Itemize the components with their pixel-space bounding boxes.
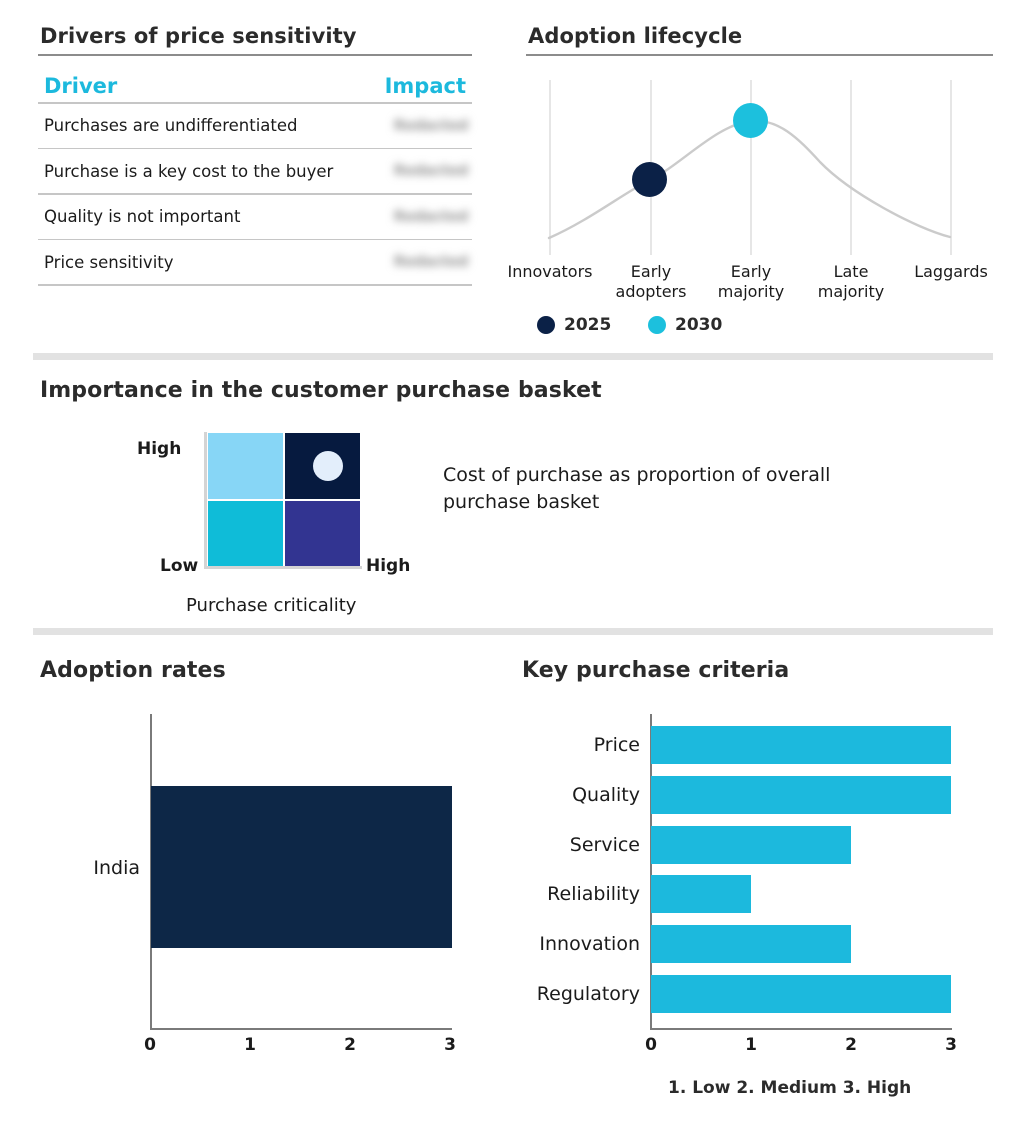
x-tick-0: 0	[138, 1035, 162, 1055]
key-criteria-x-axis	[650, 1028, 952, 1030]
table-row[interactable]: Price sensitivity Redacted	[38, 240, 472, 284]
bar-quality[interactable]	[651, 776, 951, 814]
key-criteria-footnote: 1. Low 2. Medium 3. High	[668, 1078, 911, 1098]
x-tick-1: 1	[739, 1035, 763, 1055]
x-tick-1: 1	[238, 1035, 262, 1055]
quadrant-low-high[interactable]	[285, 501, 360, 567]
category-label-regulatory: Regulatory	[500, 983, 640, 1005]
legend-label-2025: 2025	[564, 315, 611, 335]
drivers-title-rule	[38, 54, 472, 56]
x-tick-laggards: Laggards	[908, 262, 994, 282]
table-bottom-rule	[38, 284, 472, 286]
legend-dot-2030	[648, 316, 666, 334]
band-separator	[33, 628, 993, 635]
quadrant-low-low[interactable]	[208, 501, 283, 567]
marker-2025[interactable]	[632, 162, 667, 197]
column-header-driver: Driver	[44, 74, 385, 98]
category-label-service: Service	[500, 834, 640, 856]
impact-cell-redacted: Redacted	[394, 254, 466, 270]
x-tick-late-majority: Latemajority	[808, 262, 894, 302]
matrix-y-label-low: Low	[160, 556, 198, 576]
quadrant-high-high[interactable]	[285, 433, 360, 499]
table-row[interactable]: Purchase is a key cost to the buyer Reda…	[38, 149, 472, 193]
category-label-price: Price	[500, 734, 640, 756]
x-tick-2: 2	[338, 1035, 362, 1055]
bar-india[interactable]	[151, 786, 452, 948]
x-tick-3: 3	[438, 1035, 462, 1055]
category-label-innovation: Innovation	[500, 933, 640, 955]
position-marker-icon	[313, 451, 343, 481]
key-criteria-title: Key purchase criteria	[522, 658, 789, 683]
bar-regulatory[interactable]	[651, 975, 951, 1013]
category-label-reliability: Reliability	[500, 883, 640, 905]
drivers-section-title: Drivers of price sensitivity	[40, 24, 357, 48]
lifecycle-section-title: Adoption lifecycle	[528, 24, 742, 48]
x-tick-early-majority: Earlymajority	[708, 262, 794, 302]
band-separator	[33, 353, 993, 360]
adoption-rates-x-axis	[150, 1028, 452, 1030]
driver-cell: Quality is not important	[44, 207, 394, 226]
driver-cell: Purchases are undifferentiated	[44, 116, 394, 135]
bar-innovation[interactable]	[651, 925, 851, 963]
table-row[interactable]: Purchases are undifferentiated Redacted	[38, 104, 472, 148]
bar-reliability[interactable]	[651, 875, 751, 913]
legend-item-2025[interactable]: 2025	[537, 315, 611, 335]
legend-label-2030: 2030	[675, 315, 722, 335]
legend-dot-2025	[537, 316, 555, 334]
x-tick-innovators: Innovators	[487, 262, 613, 282]
matrix-x-axis-title: Purchase criticality	[186, 595, 356, 616]
impact-cell-redacted: Redacted	[394, 209, 466, 225]
adoption-rates-title: Adoption rates	[40, 658, 226, 683]
driver-cell: Purchase is a key cost to the buyer	[44, 162, 394, 181]
basket-section-title: Importance in the customer purchase bask…	[40, 378, 602, 403]
x-tick-0: 0	[639, 1035, 663, 1055]
x-tick-2: 2	[839, 1035, 863, 1055]
drivers-table-header: Driver Impact	[38, 74, 472, 102]
impact-cell-redacted: Redacted	[394, 118, 466, 134]
category-label-india: India	[60, 857, 140, 879]
matrix-x-label-high: High	[366, 556, 410, 576]
lifecycle-curve	[530, 80, 1000, 255]
legend-item-2030[interactable]: 2030	[648, 315, 722, 335]
driver-cell: Price sensitivity	[44, 253, 394, 272]
table-row[interactable]: Quality is not important Redacted	[38, 195, 472, 239]
matrix-x-axis	[204, 566, 362, 569]
bar-service[interactable]	[651, 826, 851, 864]
matrix-y-axis	[204, 432, 207, 568]
bar-price[interactable]	[651, 726, 951, 764]
matrix-quadrants	[208, 433, 360, 566]
lifecycle-title-rule	[526, 54, 993, 56]
matrix-y-label-high: High	[137, 439, 181, 459]
drivers-table: Driver Impact Purchases are undifferenti…	[38, 74, 472, 286]
column-header-impact: Impact	[385, 74, 466, 98]
category-label-quality: Quality	[500, 784, 640, 806]
x-tick-early-adopters: Earlyadopters	[608, 262, 694, 302]
adoption-lifecycle-chart	[530, 80, 1000, 255]
marker-2030[interactable]	[733, 103, 768, 138]
quadrant-high-low[interactable]	[208, 433, 283, 499]
impact-cell-redacted: Redacted	[394, 163, 466, 179]
x-tick-3: 3	[939, 1035, 963, 1055]
matrix-caption: Cost of purchase as proportion of overal…	[443, 462, 843, 516]
